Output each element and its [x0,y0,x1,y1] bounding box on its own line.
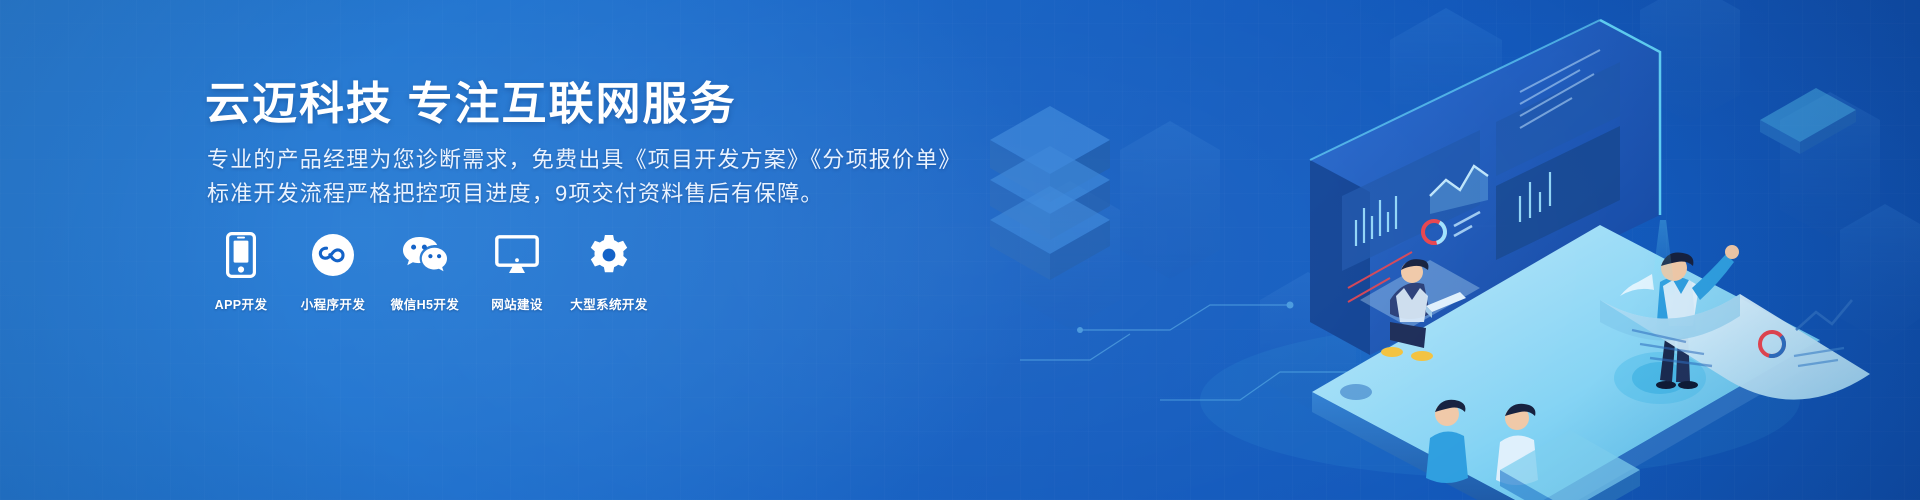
hero-content: 云迈科技 专注互联网服务 专业的产品经理为您诊断需求，免费出具《项目开发方案》《… [205,0,965,500]
gear-icon [586,232,632,278]
subtitle-line-1: 专业的产品经理为您诊断需求，免费出具《项目开发方案》《分项报价单》 [207,143,962,177]
service-item-wechat-h5[interactable]: 微信H5开发 [389,232,461,313]
service-label: 微信H5开发 [391,294,459,313]
hero-illustration [960,0,1920,500]
hero-subtitle: 专业的产品经理为您诊断需求，免费出具《项目开发方案》《分项报价单》 标准开发流程… [207,143,962,211]
service-label: 小程序开发 [301,294,366,313]
service-item-app[interactable]: APP开发 [205,232,277,313]
service-list: APP开发 小程序开发 [205,232,645,313]
mini-program-icon [310,232,356,278]
page-title: 云迈科技 专注互联网服务 [205,76,737,132]
service-label: 大型系统开发 [570,294,647,313]
service-label: 网站建设 [491,294,543,313]
service-item-large-system[interactable]: 大型系统开发 [573,232,645,313]
service-item-mini-program[interactable]: 小程序开发 [297,232,369,313]
mobile-phone-icon [218,232,264,278]
hero-banner: 云迈科技 专注互联网服务 专业的产品经理为您诊断需求，免费出具《项目开发方案》《… [0,0,1920,500]
subtitle-line-2: 标准开发流程严格把控项目进度，9项交付资料售后有保障。 [207,177,962,211]
monitor-icon [494,232,540,278]
wechat-icon [402,232,448,278]
service-item-website[interactable]: 网站建设 [481,232,553,313]
service-label: APP开发 [215,294,268,313]
